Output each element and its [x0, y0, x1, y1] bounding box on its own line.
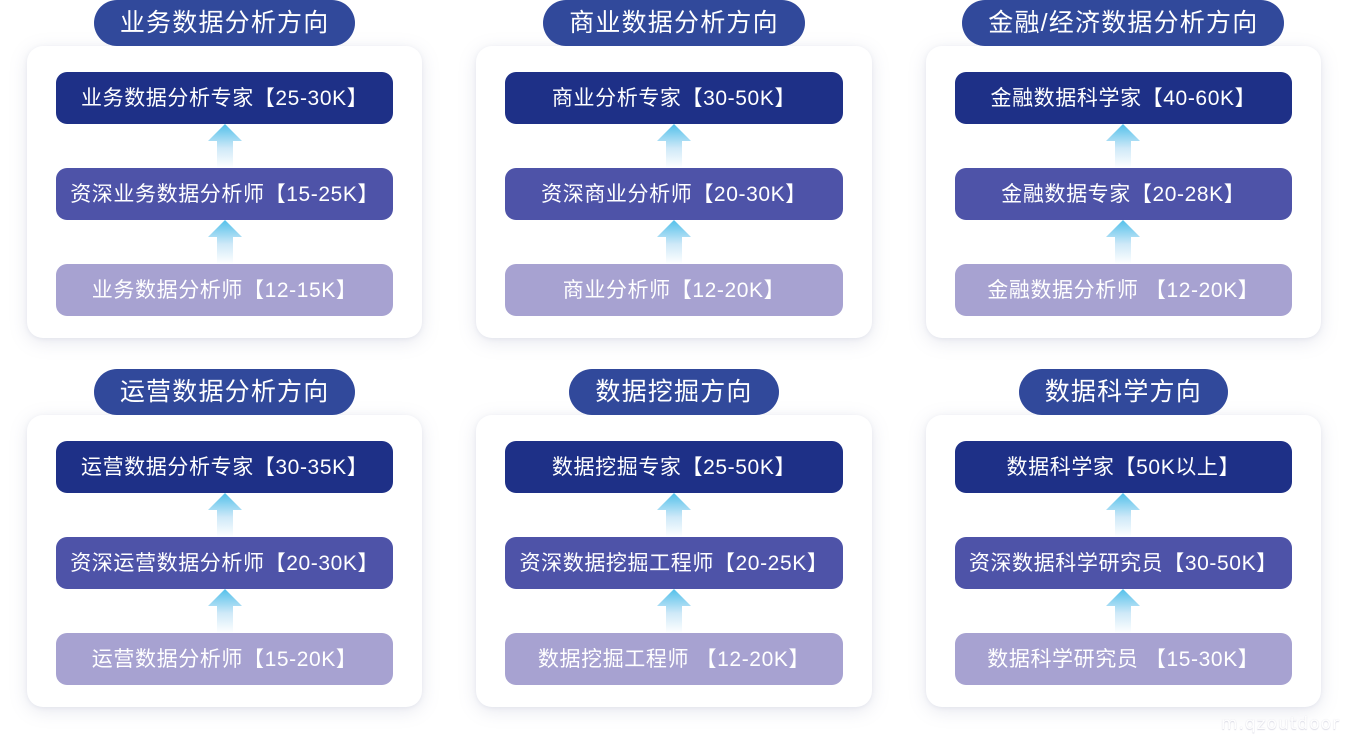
column-title-wrap: 业务数据分析方向 [27, 0, 422, 52]
column-title-wrap: 数据科学方向 [926, 369, 1321, 421]
up-arrow-icon [1106, 493, 1140, 537]
career-ladder: 商业分析专家【30-50K】 资深商业分析师【20-30K】 商业分析师【12-… [505, 72, 842, 316]
column-title-wrap: 数据挖掘方向 [476, 369, 871, 421]
career-level-top[interactable]: 数据科学家【50K以上】 [955, 441, 1292, 493]
career-level-bottom[interactable]: 业务数据分析师【12-15K】 [56, 264, 393, 316]
career-card: 商业分析专家【30-50K】 资深商业分析师【20-30K】 商业分析师【12-… [476, 46, 871, 338]
column-title-pill: 金融/经济数据分析方向 [962, 0, 1284, 46]
career-ladder: 运营数据分析专家【30-35K】 资深运营数据分析师【20-30K】 运营数据分… [56, 441, 393, 685]
career-path-board: 业务数据分析方向 业务数据分析专家【25-30K】 资深业务数据分析师【15-2… [0, 0, 1348, 738]
career-level-top[interactable]: 金融数据科学家【40-60K】 [955, 72, 1292, 124]
career-card: 数据挖掘专家【25-50K】 资深数据挖掘工程师【20-25K】 数据挖掘工程师… [476, 415, 871, 707]
career-level-top[interactable]: 商业分析专家【30-50K】 [505, 72, 842, 124]
up-arrow-icon [208, 124, 242, 168]
career-level-top[interactable]: 业务数据分析专家【25-30K】 [56, 72, 393, 124]
career-column-4: 运营数据分析方向 运营数据分析专家【30-35K】 资深运营数据分析师【20-3… [0, 369, 449, 738]
career-card: 业务数据分析专家【25-30K】 资深业务数据分析师【15-25K】 业务数据分… [27, 46, 422, 338]
column-title-pill: 商业数据分析方向 [543, 0, 805, 46]
career-level-top[interactable]: 运营数据分析专家【30-35K】 [56, 441, 393, 493]
column-title-wrap: 金融/经济数据分析方向 [926, 0, 1321, 52]
up-arrow-icon [657, 589, 691, 633]
career-column-3: 金融/经济数据分析方向 金融数据科学家【40-60K】 金融数据专家【20-28… [899, 0, 1348, 369]
career-level-mid[interactable]: 资深数据挖掘工程师【20-25K】 [505, 537, 842, 589]
column-title-pill: 运营数据分析方向 [94, 369, 356, 415]
career-level-mid[interactable]: 金融数据专家【20-28K】 [955, 168, 1292, 220]
career-column-1: 业务数据分析方向 业务数据分析专家【25-30K】 资深业务数据分析师【15-2… [0, 0, 449, 369]
career-level-bottom[interactable]: 金融数据分析师 【12-20K】 [955, 264, 1292, 316]
column-title-wrap: 商业数据分析方向 [476, 0, 871, 52]
up-arrow-icon [208, 493, 242, 537]
career-level-mid[interactable]: 资深运营数据分析师【20-30K】 [56, 537, 393, 589]
career-ladder: 金融数据科学家【40-60K】 金融数据专家【20-28K】 金融数据分析师 【… [955, 72, 1292, 316]
up-arrow-icon [208, 220, 242, 264]
career-card: 金融数据科学家【40-60K】 金融数据专家【20-28K】 金融数据分析师 【… [926, 46, 1321, 338]
column-title-pill: 数据挖掘方向 [569, 369, 778, 415]
career-level-bottom[interactable]: 数据挖掘工程师 【12-20K】 [505, 633, 842, 685]
career-level-mid[interactable]: 资深业务数据分析师【15-25K】 [56, 168, 393, 220]
career-level-top[interactable]: 数据挖掘专家【25-50K】 [505, 441, 842, 493]
career-level-mid[interactable]: 资深商业分析师【20-30K】 [505, 168, 842, 220]
column-title-pill: 业务数据分析方向 [94, 0, 356, 46]
up-arrow-icon [657, 124, 691, 168]
career-column-2: 商业数据分析方向 商业分析专家【30-50K】 资深商业分析师【20-30K】 … [449, 0, 898, 369]
career-level-bottom[interactable]: 数据科学研究员 【15-30K】 [955, 633, 1292, 685]
career-level-mid[interactable]: 资深数据科学研究员【30-50K】 [955, 537, 1292, 589]
career-column-6: 数据科学方向 数据科学家【50K以上】 资深数据科学研究员【30-50K】 数据… [899, 369, 1348, 738]
career-level-bottom[interactable]: 运营数据分析师【15-20K】 [56, 633, 393, 685]
up-arrow-icon [208, 589, 242, 633]
up-arrow-icon [1106, 124, 1140, 168]
career-ladder: 数据科学家【50K以上】 资深数据科学研究员【30-50K】 数据科学研究员 【… [955, 441, 1292, 685]
career-column-5: 数据挖掘方向 数据挖掘专家【25-50K】 资深数据挖掘工程师【20-25K】 … [449, 369, 898, 738]
up-arrow-icon [1106, 220, 1140, 264]
career-ladder: 业务数据分析专家【25-30K】 资深业务数据分析师【15-25K】 业务数据分… [56, 72, 393, 316]
column-title-wrap: 运营数据分析方向 [27, 369, 422, 421]
career-card: 运营数据分析专家【30-35K】 资深运营数据分析师【20-30K】 运营数据分… [27, 415, 422, 707]
up-arrow-icon [657, 220, 691, 264]
career-card: 数据科学家【50K以上】 资深数据科学研究员【30-50K】 数据科学研究员 【… [926, 415, 1321, 707]
up-arrow-icon [657, 493, 691, 537]
up-arrow-icon [1106, 589, 1140, 633]
career-level-bottom[interactable]: 商业分析师【12-20K】 [505, 264, 842, 316]
column-title-pill: 数据科学方向 [1019, 369, 1228, 415]
career-ladder: 数据挖掘专家【25-50K】 资深数据挖掘工程师【20-25K】 数据挖掘工程师… [505, 441, 842, 685]
